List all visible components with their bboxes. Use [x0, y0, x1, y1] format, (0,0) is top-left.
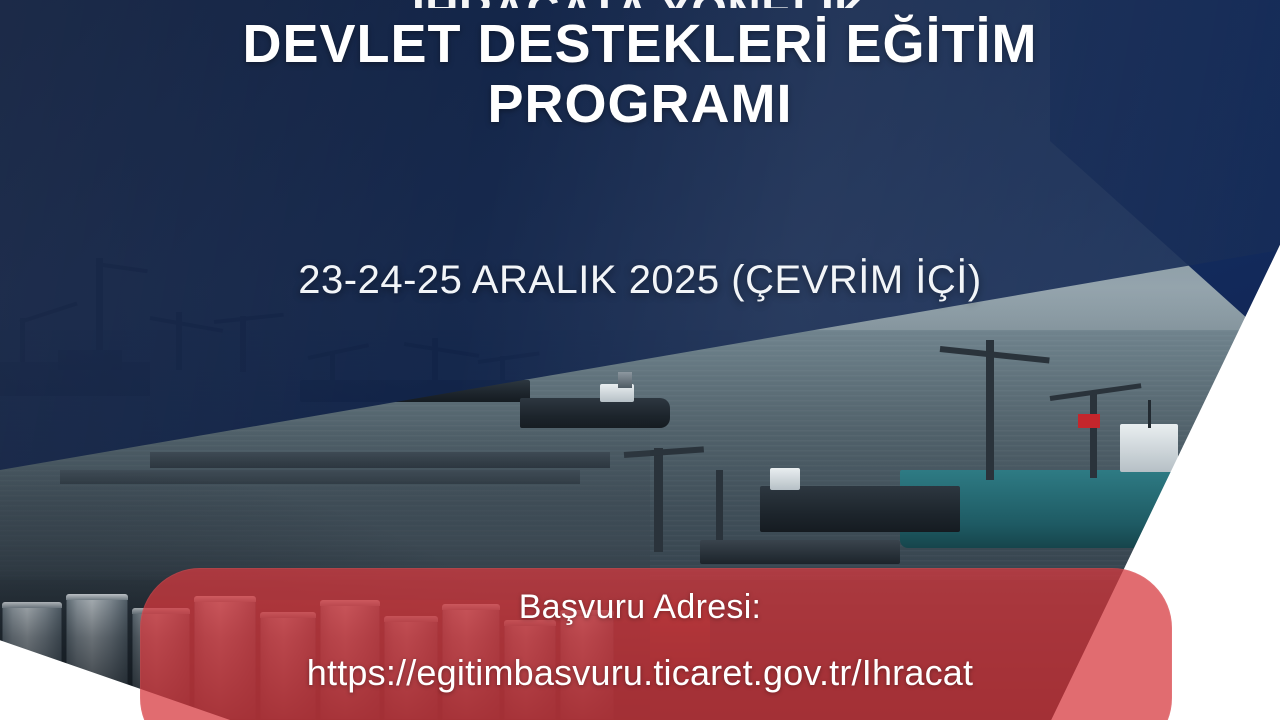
page-title: DEVLET DESTEKLERİ EĞİTİM	[0, 14, 1280, 74]
event-date-line: 23-24-25 ARALIK 2025 (ÇEVRİM İÇİ)	[0, 258, 1280, 303]
ship-bridge	[770, 468, 800, 490]
turkish-flag-icon	[1078, 414, 1100, 428]
cargo-ship-icon	[760, 486, 960, 532]
port-crane-icon	[986, 340, 994, 480]
ship-funnel	[618, 372, 632, 388]
title-clipped-line: İHRACATA YÖNELİK	[0, 0, 1280, 8]
application-url[interactable]: https://egitimbasvuru.ticaret.gov.tr/Ihr…	[0, 652, 1280, 694]
port-crane-icon	[1090, 392, 1097, 478]
port-crane-icon	[654, 448, 663, 552]
ship-bridge	[1120, 424, 1178, 472]
application-label: Başvuru Adresi:	[0, 588, 1280, 627]
poster-title-block: İHRACATA YÖNELİK DEVLET DESTEKLERİ EĞİTİ…	[0, 0, 1280, 135]
event-poster: İHRACATA YÖNELİK DEVLET DESTEKLERİ EĞİTİ…	[0, 0, 1280, 720]
barge-icon	[700, 540, 900, 564]
page-title-second-line: PROGRAMI	[0, 74, 1280, 134]
ship-mast	[1148, 400, 1151, 428]
